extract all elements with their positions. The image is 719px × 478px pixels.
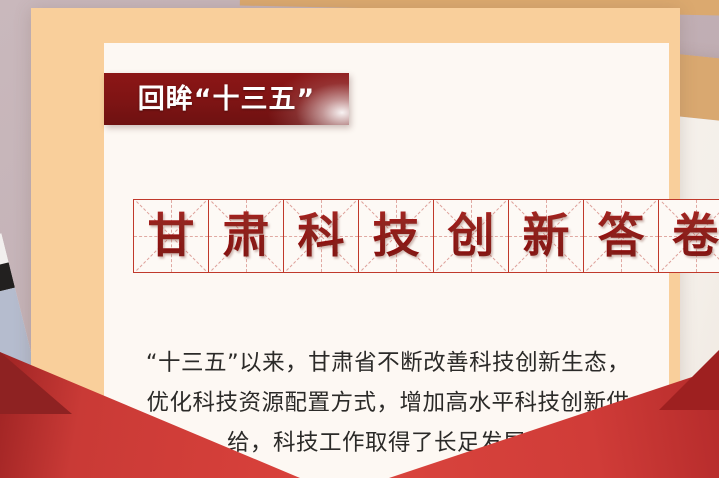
title-grid-cell: 甘 [133,199,208,273]
title-grid-cell: 新 [508,199,583,273]
title-character: 科 [284,200,358,272]
title-grid-cell: 科 [283,199,358,273]
poster-stage: 回眸“十三五” 甘 肃 科 [0,0,719,478]
banner-huimou-shisanwu: 回眸“十三五” [104,73,349,125]
banner-label: 回眸“十三五” [138,86,316,113]
title-grid-cell: 卷 [658,199,719,273]
poster-page-cream: 回眸“十三五” 甘 肃 科 [104,43,669,478]
title-character: 新 [509,200,583,272]
title-grid-cell: 答 [583,199,658,273]
title-grid-cell: 创 [433,199,508,273]
title-character: 卷 [659,200,719,272]
title-character: 技 [359,200,433,272]
title-character: 答 [584,200,658,272]
title-grid-cell: 肃 [208,199,283,273]
title-character: 甘 [134,200,208,272]
title-character: 创 [434,200,508,272]
title-grid: 甘 肃 科 技 [133,199,719,273]
title-grid-cell: 技 [358,199,433,273]
title-character: 肃 [209,200,283,272]
